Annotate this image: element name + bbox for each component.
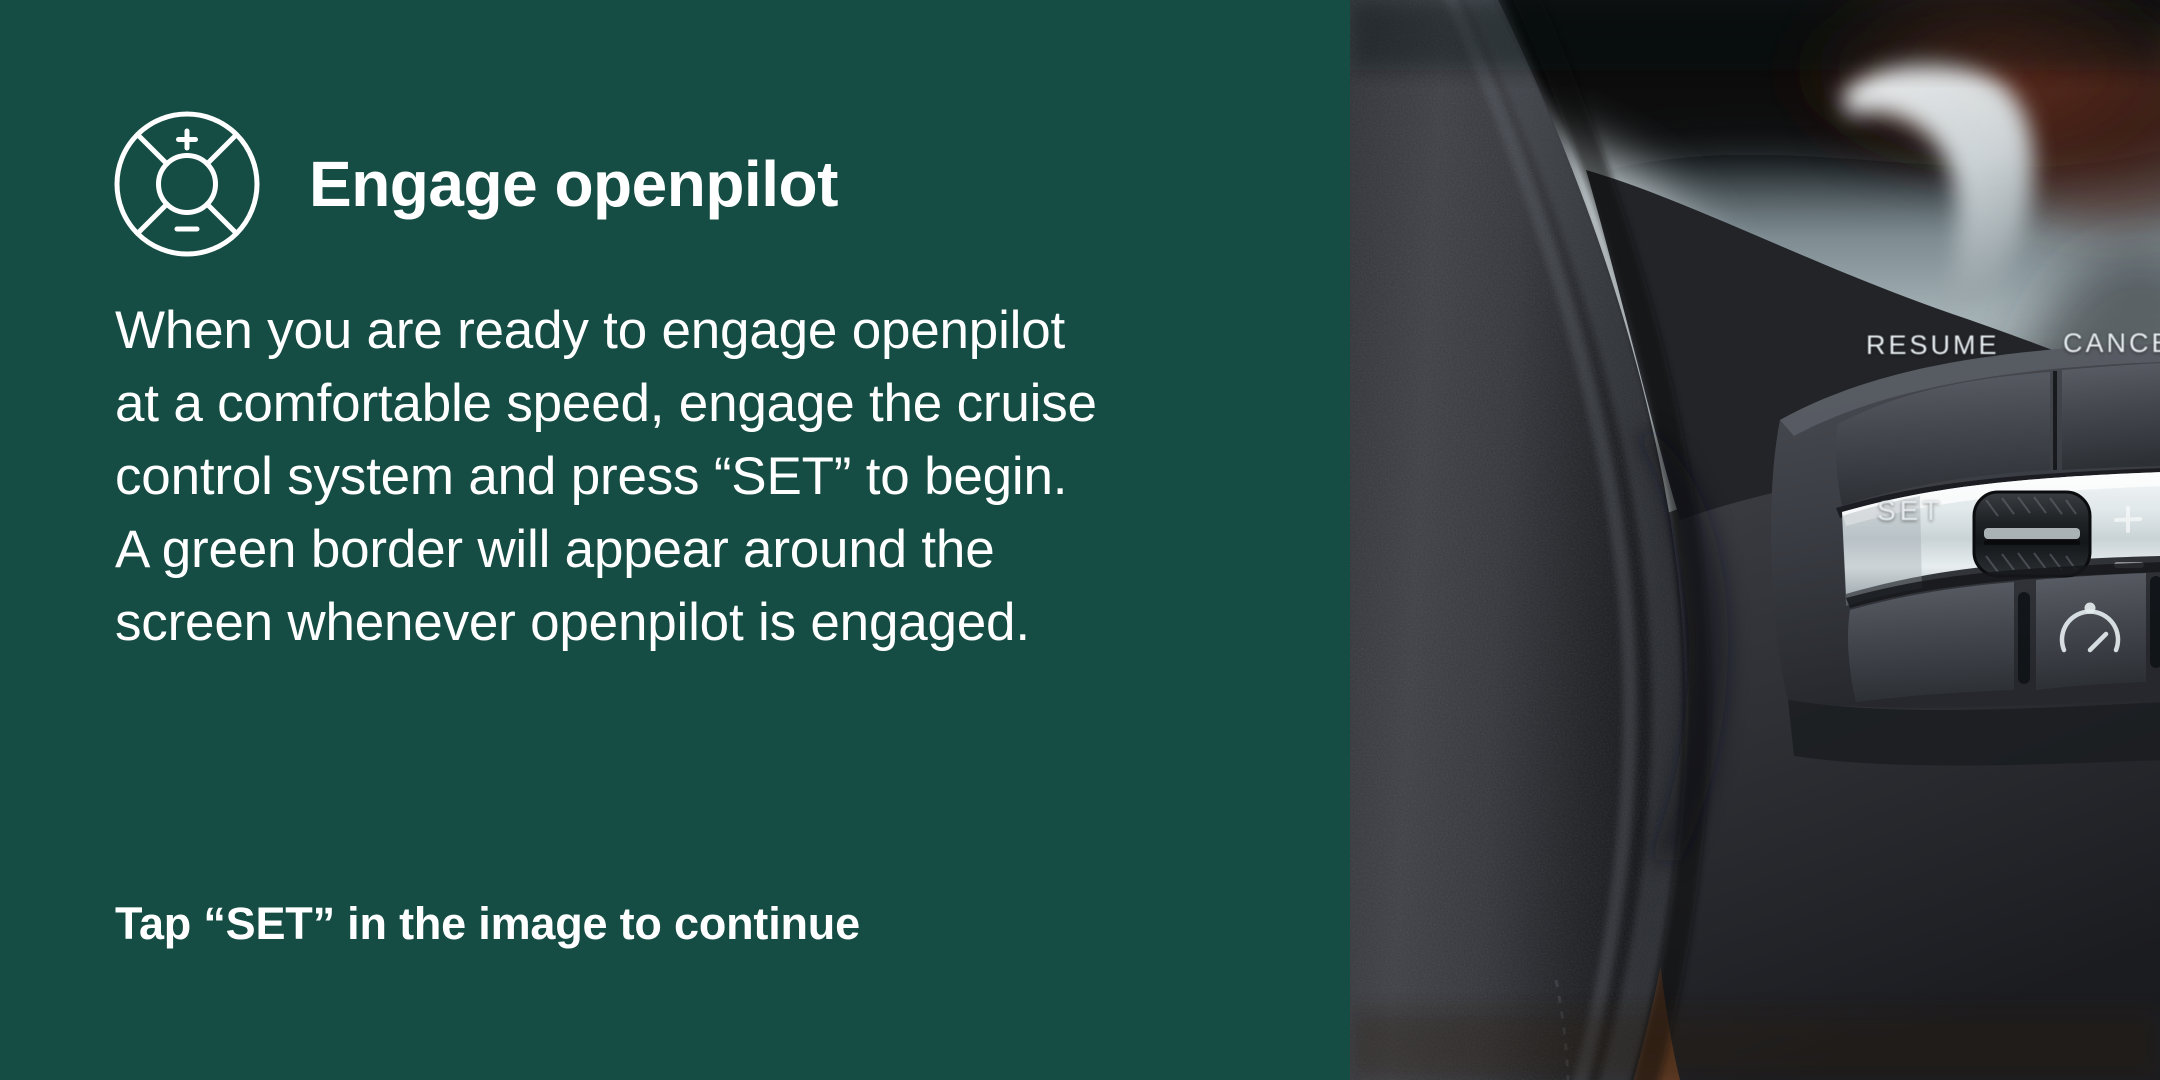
- instruction-body: When you are ready to engage openpilot a…: [115, 294, 1295, 659]
- continue-instruction: Tap “SET” in the image to continue: [115, 898, 860, 950]
- onboarding-screen: Engage openpilot When you are ready to e…: [0, 0, 2160, 1080]
- cruise-control-icon: [113, 110, 261, 258]
- instruction-panel: Engage openpilot When you are ready to e…: [0, 0, 1350, 1080]
- body-line: at a comfortable speed, engage the cruis…: [115, 367, 1295, 440]
- page-title: Engage openpilot: [309, 152, 838, 216]
- body-line: A green border will appear around the: [115, 513, 1295, 586]
- steering-wheel-photo[interactable]: RESUME CANCE SET: [1350, 0, 2160, 1080]
- steering-wheel-illustration: [1350, 0, 2160, 1080]
- body-line: When you are ready to engage openpilot: [115, 294, 1295, 367]
- body-line: control system and press “SET” to begin.: [115, 440, 1295, 513]
- panel-header: Engage openpilot: [113, 110, 838, 258]
- body-line: screen whenever openpilot is engaged.: [115, 586, 1295, 659]
